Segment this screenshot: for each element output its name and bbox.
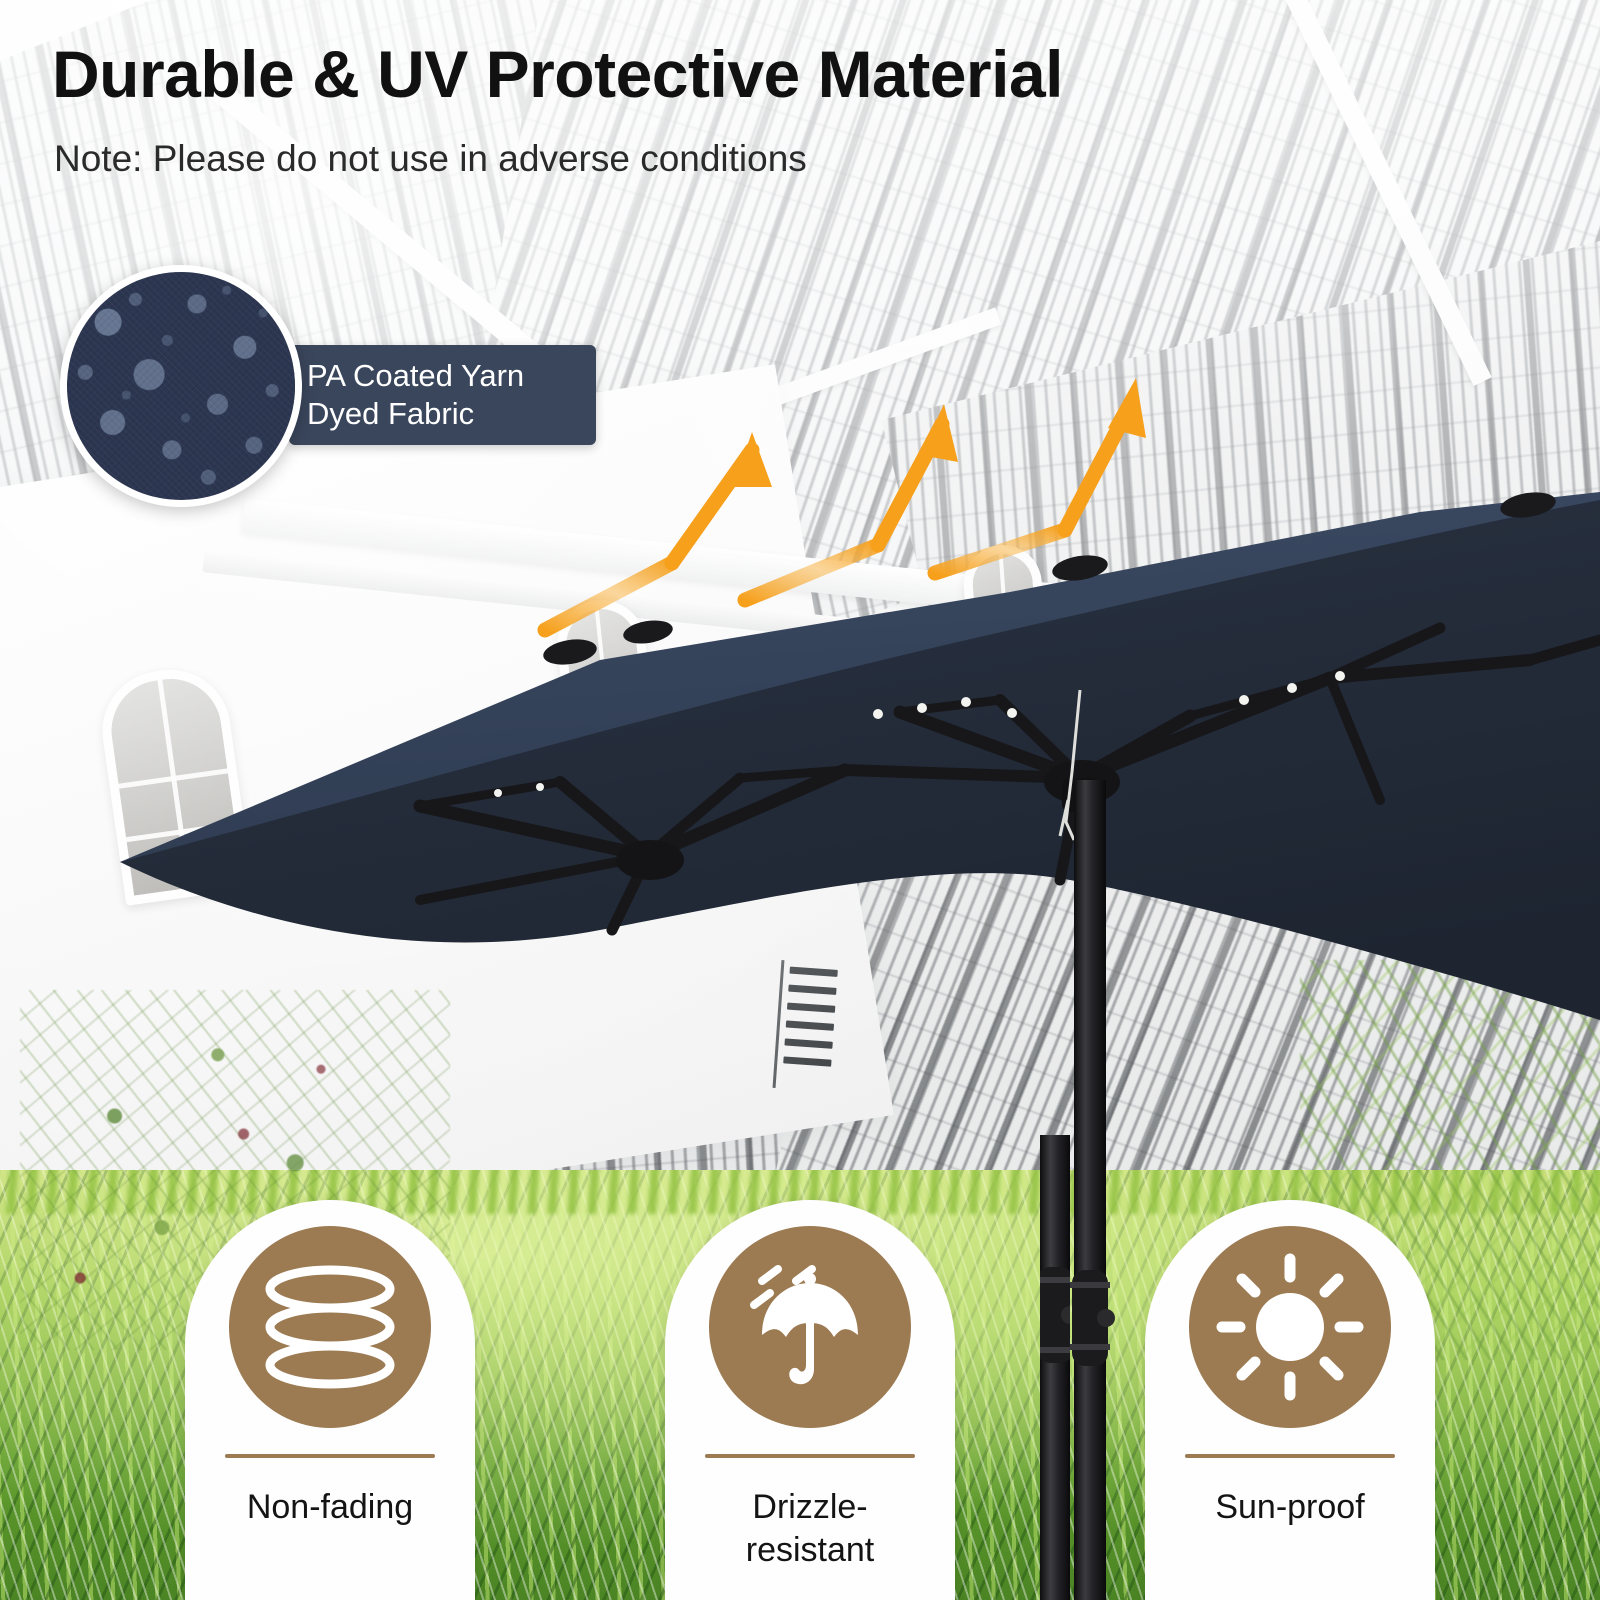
feature-card-drizzle-resistant[interactable]: Drizzle-resistant: [665, 1200, 955, 1600]
feature-label: Non-fading: [210, 1486, 450, 1529]
umbrella-rain-icon: [709, 1226, 911, 1428]
card-divider: [705, 1454, 915, 1458]
feature-label: Sun-proof: [1170, 1486, 1410, 1529]
feature-card-sun-proof[interactable]: Sun-proof: [1145, 1200, 1435, 1600]
feature-card-non-fading[interactable]: Non-fading: [185, 1200, 475, 1600]
card-divider: [1185, 1454, 1395, 1458]
sun-icon: [1189, 1226, 1391, 1428]
feature-cards: Non-fading Drizzle-resistant: [0, 0, 1600, 1600]
product-feature-banner: Durable & UV Protective Material Note: P…: [0, 0, 1600, 1600]
card-divider: [225, 1454, 435, 1458]
fabric-layers-icon: [229, 1226, 431, 1428]
feature-label: Drizzle-resistant: [690, 1486, 930, 1571]
umbrella-pole-foreground: [1040, 1135, 1070, 1600]
